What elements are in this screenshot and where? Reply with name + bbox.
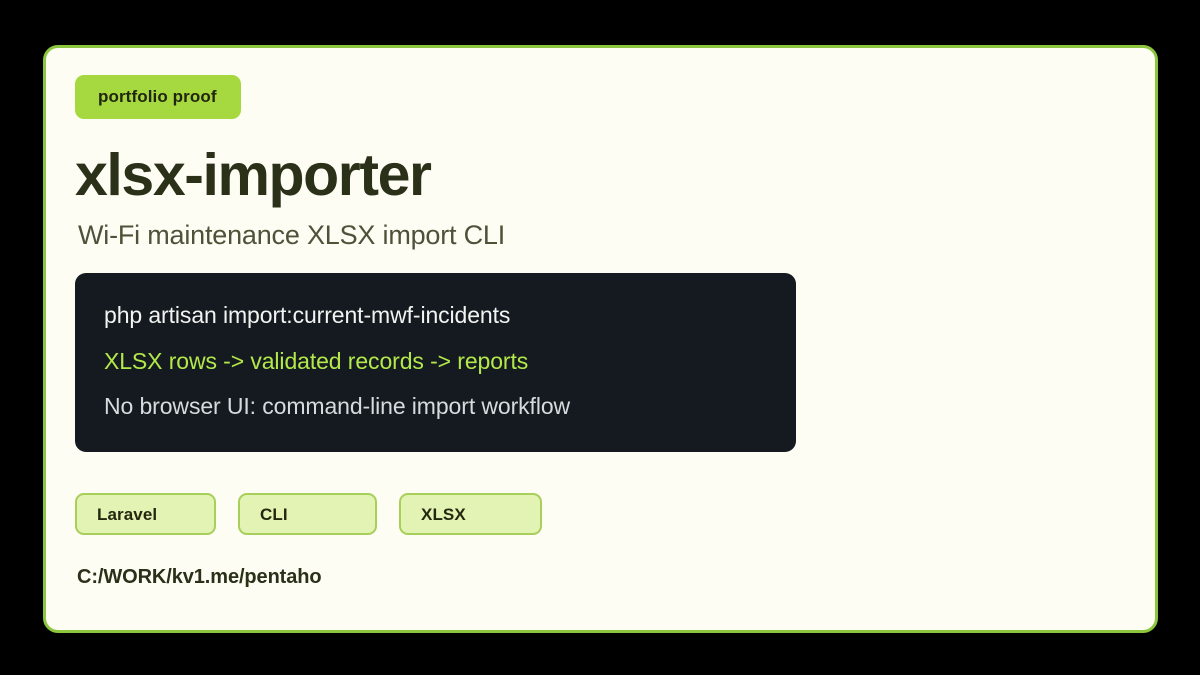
page-title: xlsx-importer: [75, 145, 1125, 206]
code-line-note: No browser UI: command-line import workf…: [104, 384, 770, 430]
portfolio-card: portfolio proof xlsx-importer Wi-Fi main…: [43, 45, 1158, 633]
tag-chip-xlsx: XLSX: [399, 493, 542, 535]
terminal-code-block: php artisan import:current-mwf-incidents…: [75, 273, 796, 452]
footer-path-label: C:/WORK/kv1.me/pentaho: [77, 565, 1125, 589]
badge-row: portfolio proof: [75, 75, 1125, 119]
tag-chip-list: Laravel CLI XLSX: [75, 493, 1125, 535]
status-badge: portfolio proof: [75, 75, 241, 119]
page-subtitle: Wi-Fi maintenance XLSX import CLI: [78, 220, 1125, 251]
code-line-command: php artisan import:current-mwf-incidents: [104, 293, 770, 339]
screenshot-canvas: portfolio proof xlsx-importer Wi-Fi main…: [0, 0, 1200, 675]
code-line-flow: XLSX rows -> validated records -> report…: [104, 339, 770, 385]
tag-chip-laravel: Laravel: [75, 493, 216, 535]
tag-chip-cli: CLI: [238, 493, 377, 535]
